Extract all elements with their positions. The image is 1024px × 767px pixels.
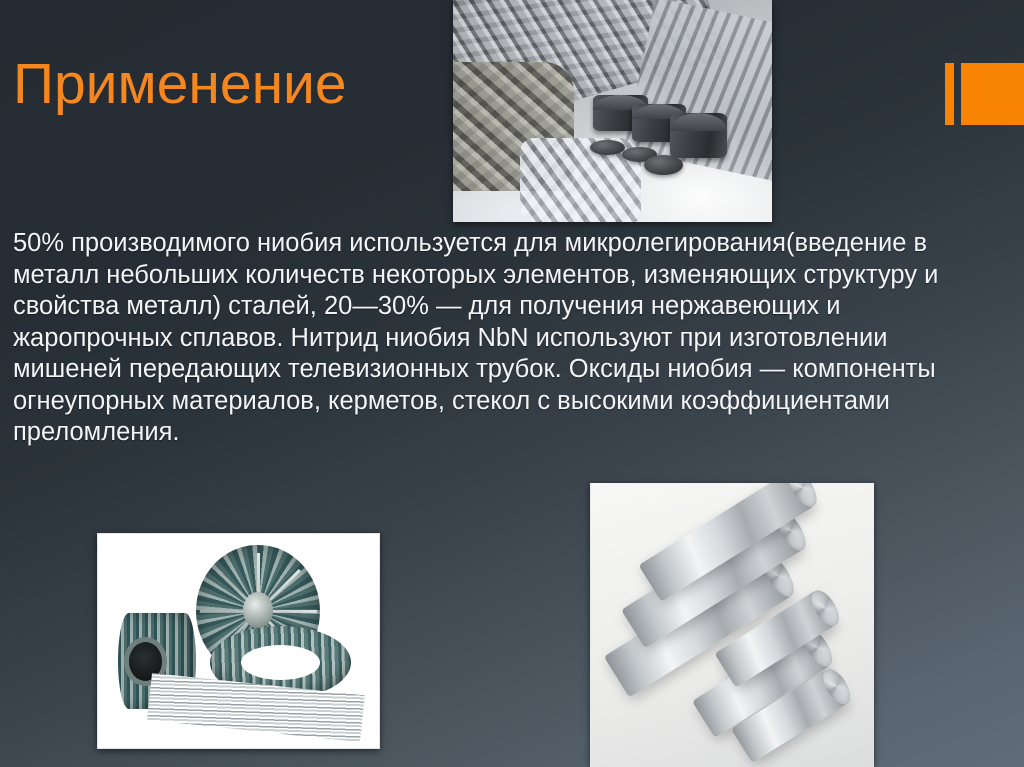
- slide: Применение 50% производимого ниобия испо…: [0, 0, 1024, 767]
- dark-disc-3: [644, 155, 682, 175]
- page-title: Применение: [13, 52, 347, 116]
- accent-bar-thin: [945, 63, 954, 125]
- orange-accent-mark: [945, 63, 1024, 125]
- image-steel-rods: [590, 483, 874, 767]
- steel-bar-4-end: [805, 586, 843, 630]
- image-wire-spools: [97, 533, 380, 749]
- image-steel-rods-canvas: [591, 483, 874, 767]
- wire-coil-inner-hole: [241, 645, 320, 680]
- image-niobium-pellets-canvas: [453, 0, 772, 222]
- image-niobium-pellets: [453, 0, 772, 222]
- accent-bar-block: [961, 63, 1024, 125]
- spool-hub: [243, 592, 273, 628]
- body-paragraph: 50% производимого ниобия используется дл…: [13, 228, 943, 449]
- dark-slug-3: [670, 113, 727, 157]
- steel-bar-1-end: [783, 483, 823, 511]
- image-wire-spools-canvas: [98, 534, 379, 748]
- steel-bar-6-end: [817, 664, 855, 708]
